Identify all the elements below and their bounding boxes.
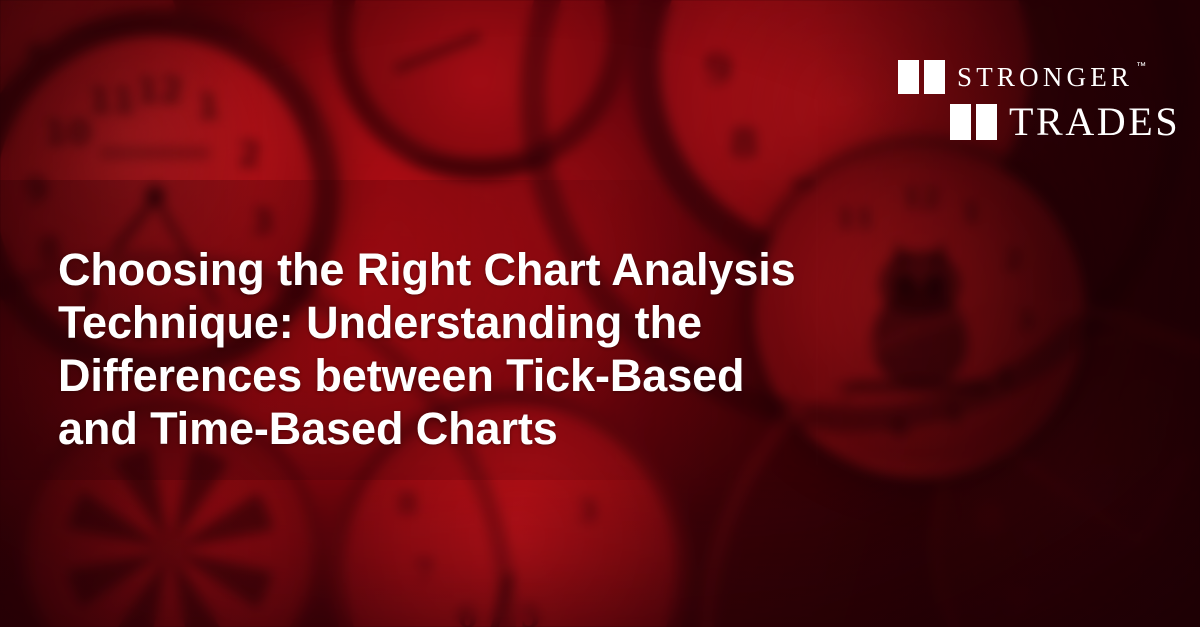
logo-rectangle-icon: [924, 60, 945, 94]
logo-mark-top: [898, 60, 945, 94]
logo-row-stronger: STRONGER™: [898, 60, 1133, 94]
logo-wordmark-stronger-text: STRONGER: [957, 62, 1133, 92]
logo-wordmark-trades: TRADES: [1009, 102, 1180, 142]
logo-rectangle-icon: [898, 60, 919, 94]
logo-rectangle-icon: [950, 104, 971, 140]
article-hero-banner: 9 8 7 12 1 2 3 4 5 6 7 8 9 10 11 8: [0, 0, 1200, 627]
stronger-trades-logo[interactable]: STRONGER™ TRADES: [898, 60, 1166, 146]
trademark-icon: ™: [1136, 62, 1146, 72]
logo-rectangle-icon: [976, 104, 997, 140]
logo-row-trades: TRADES: [950, 102, 1180, 142]
logo-wordmark-stronger: STRONGER™: [957, 64, 1133, 91]
page-title: Choosing the Right Chart Analysis Techni…: [58, 243, 818, 455]
logo-mark-bottom: [950, 104, 997, 140]
